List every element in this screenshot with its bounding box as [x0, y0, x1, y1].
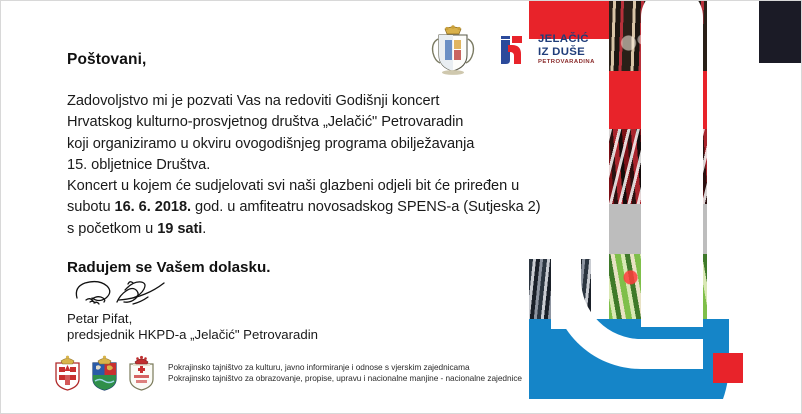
j-letterform-stem: [641, 1, 703, 327]
closing-line: Radujem se Vašem dolasku.: [67, 259, 601, 276]
signer-block: Petar Pifat, predsjednik HKPD-a „Jelačić…: [67, 311, 601, 342]
handwritten-signature: [73, 278, 223, 312]
salutation: Poštovani,: [67, 51, 601, 69]
red-square-accent: [713, 353, 743, 383]
signer-title: predsjednik HKPD-a „Jelačić" Petrovaradi…: [67, 327, 601, 343]
event-date: 16. 6. 2018.: [115, 199, 192, 215]
date-line-suffix: god. u amfiteatru novosadskog SPENS-a (S…: [191, 199, 541, 215]
letter-time-line: s početkom u 19 sati.: [67, 219, 601, 240]
footer: Pokrajinsko tajništvo za kulturu, javno …: [53, 355, 522, 391]
invitation-card: JELAČIĆ IZ DUŠE PETROVARADINA Poštovani,…: [0, 0, 802, 414]
letter-line-2: Hrvatskog kulturno-prosvjetnog društva „…: [67, 112, 601, 133]
time-line-prefix: s početkom u: [67, 221, 157, 237]
footer-line-2: Pokrajinsko tajništvo za obrazovanje, pr…: [168, 373, 522, 384]
letter-line-3: koji organiziramo u okviru ovogodišnjeg …: [67, 134, 601, 155]
signer-name: Petar Pifat,: [67, 311, 601, 327]
footer-text: Pokrajinsko tajništvo za kulturu, javno …: [168, 362, 522, 384]
letter-line-1: Zadovoljstvo mi je pozvati Vas na redovi…: [67, 91, 601, 112]
time-line-suffix: .: [202, 221, 206, 237]
letter-line-5: Koncert u kojem će sudjelovati svi naši …: [67, 176, 601, 197]
letter-line-4: 15. obljetnice Društva.: [67, 155, 601, 176]
panel-right-margin: [781, 63, 801, 414]
event-time: 19 sati: [157, 221, 202, 237]
letter-date-line: subotu 16. 6. 2018. god. u amfiteatru no…: [67, 197, 601, 218]
footer-line-1: Pokrajinsko tajništvo za kulturu, javno …: [168, 362, 522, 373]
letter-body: Poštovani, Zadovoljstvo mi je pozvati Va…: [1, 1, 601, 414]
vojvodina-coat-of-arms: [90, 355, 119, 391]
serbia-coat-of-arms: [53, 355, 82, 391]
letter-paragraphs: Zadovoljstvo mi je pozvati Vas na redovi…: [67, 91, 601, 240]
date-line-prefix: subotu: [67, 199, 115, 215]
novi-sad-coat-of-arms: [127, 355, 156, 391]
dark-block-top-right: [759, 1, 801, 63]
